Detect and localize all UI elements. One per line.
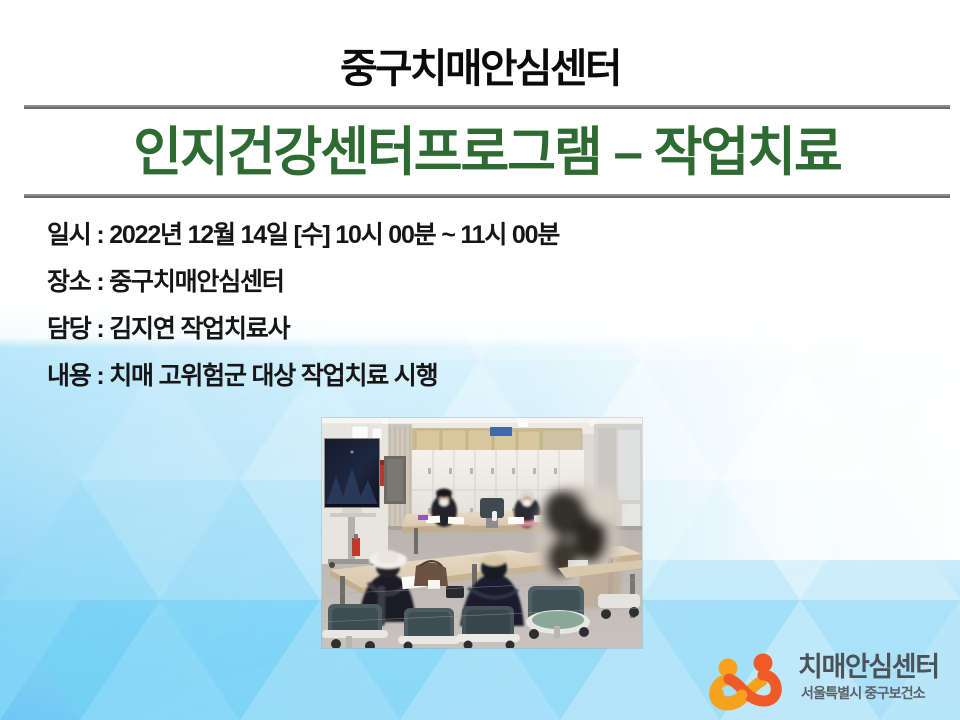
logo-subname: 서울특별시 중구보건소 bbox=[801, 686, 925, 701]
info-line-datetime: 일시 : 2022년 12월 14일 [수] 10시 00분 ~ 11시 00분 bbox=[47, 212, 747, 259]
organization-title: 중구치매안심센터 bbox=[0, 47, 960, 91]
divider-rule-bottom bbox=[24, 194, 950, 198]
info-line-location: 장소 : 중구치매안심센터 bbox=[47, 259, 747, 306]
page-title: 인지건강센터프로그램 – 작업치료 bbox=[24, 113, 950, 191]
program-photo bbox=[322, 418, 642, 648]
divider-rule-top bbox=[24, 105, 950, 109]
poster-canvas: 중구치매안심센터 인지건강센터프로그램 – 작업치료 일시 : 2022년 12… bbox=[0, 0, 960, 720]
info-line-staff: 담당 : 김지연 작업치료사 bbox=[47, 306, 747, 353]
info-list: 일시 : 2022년 12월 14일 [수] 10시 00분 ~ 11시 00분… bbox=[47, 212, 747, 400]
program-photo-image bbox=[322, 418, 642, 648]
center-logo: 치매안심센터 서울특별시 중구보건소 bbox=[706, 651, 952, 713]
logo-name: 치매안심센터 bbox=[798, 653, 939, 681]
dementia-center-logo-icon bbox=[706, 653, 792, 711]
info-line-content: 내용 : 치매 고위험군 대상 작업치료 시행 bbox=[47, 353, 747, 400]
